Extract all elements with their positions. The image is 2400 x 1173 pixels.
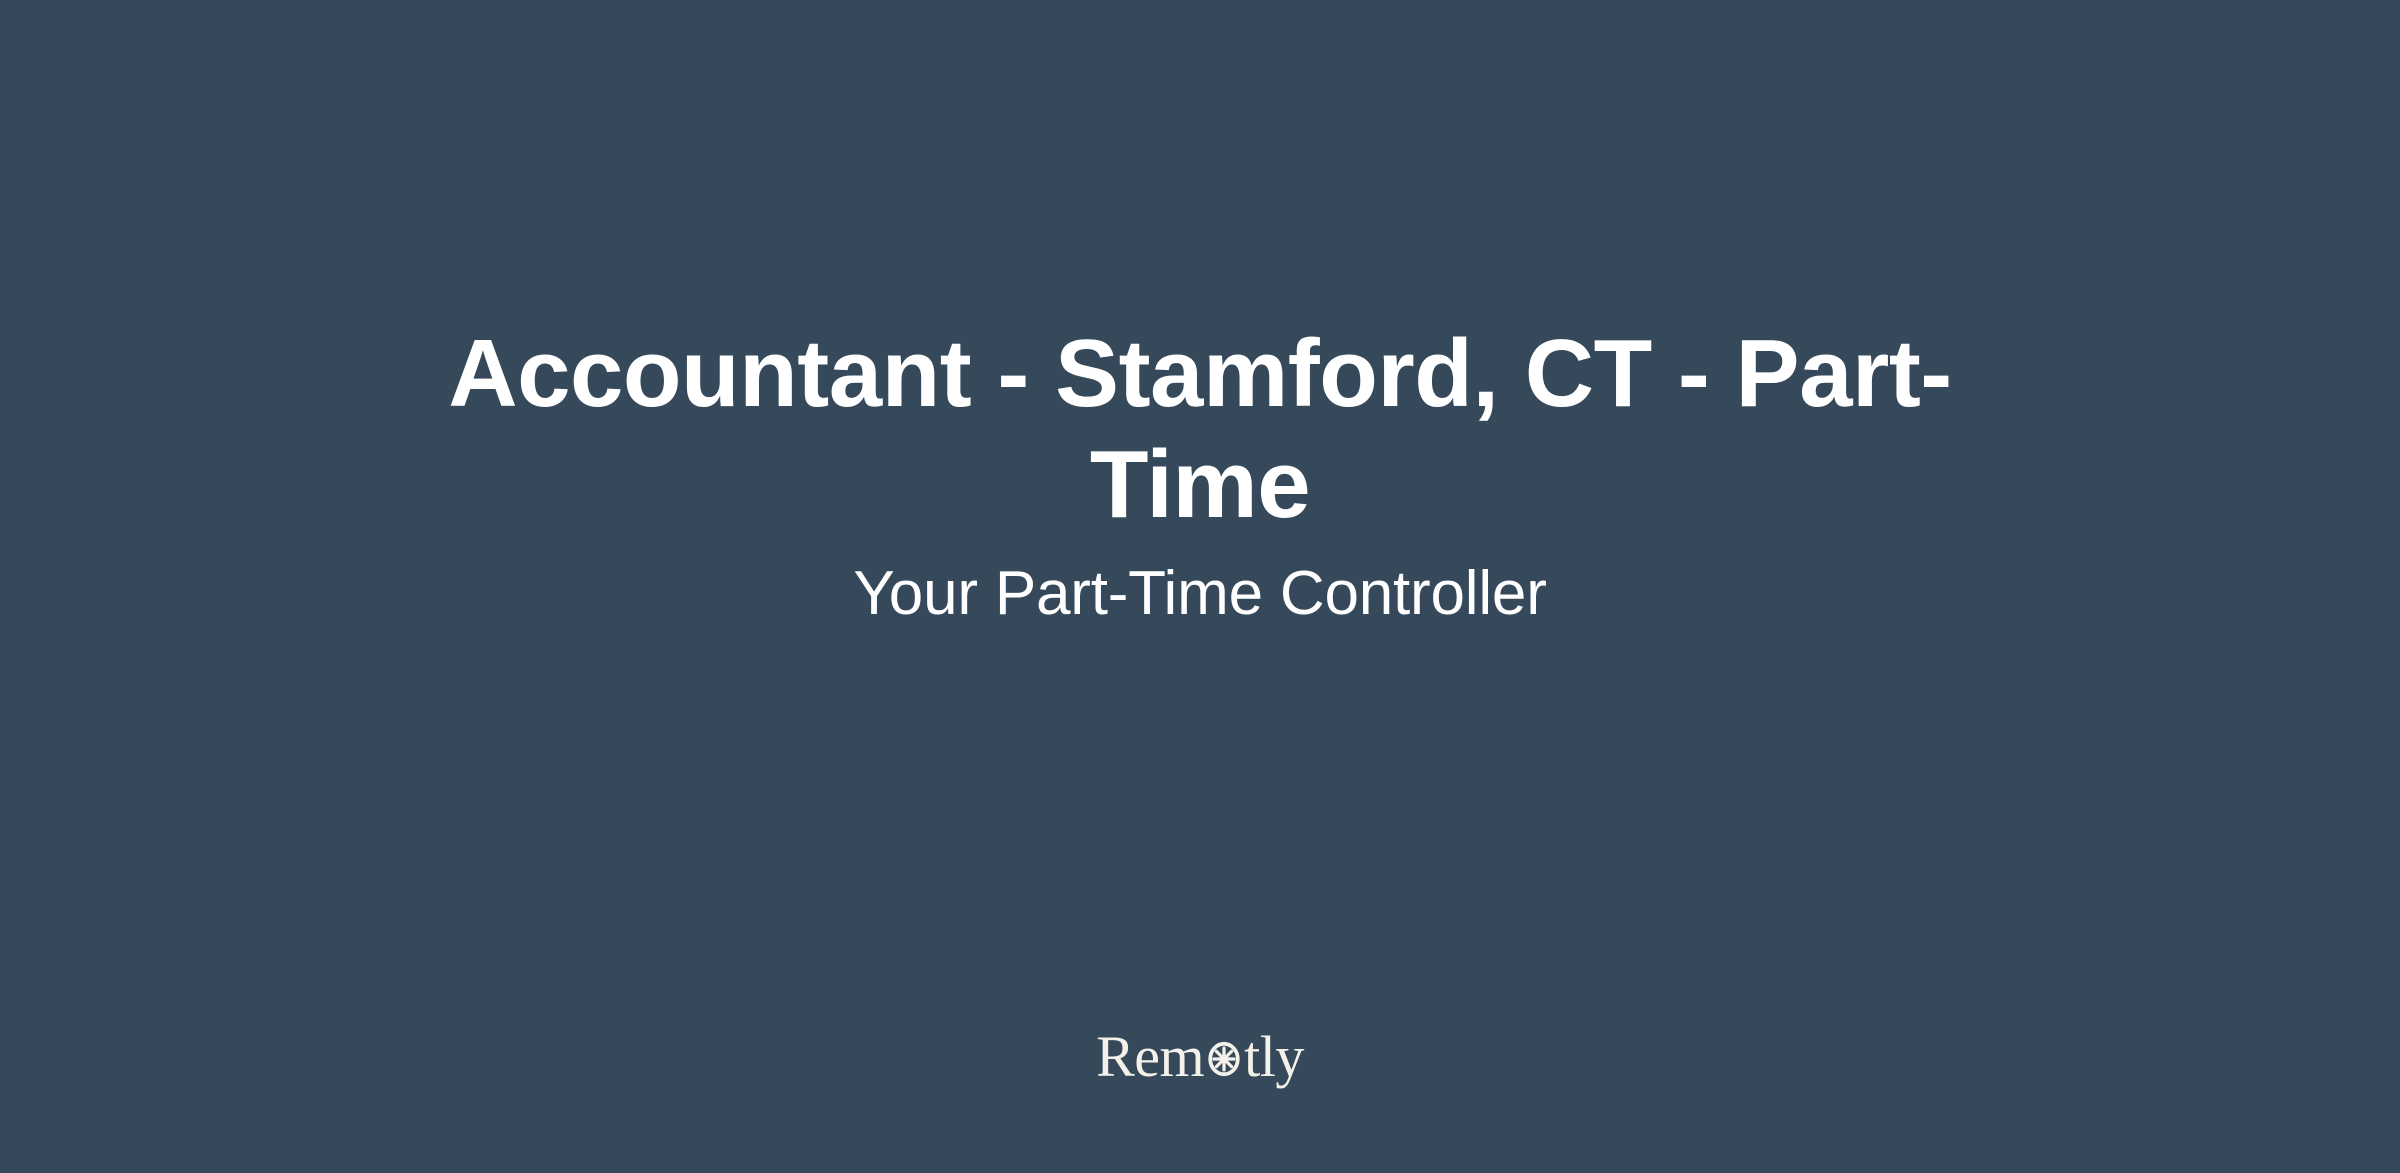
page-subtitle: Your Part-Time Controller (350, 541, 2050, 631)
hero-section: Accountant - Stamford, CT - Part-Time Yo… (0, 0, 2400, 1020)
job-posting-card: Accountant - Stamford, CT - Part-Time Yo… (0, 0, 2400, 1173)
brand-footer: Rem tly (0, 1028, 2400, 1086)
remotly-logo[interactable]: Rem tly (1096, 1028, 1304, 1086)
flower-asterisk-icon (1205, 1040, 1243, 1078)
logo-text-after-mark: tly (1244, 1028, 1304, 1086)
page-title: Accountant - Stamford, CT - Part-Time (395, 318, 2005, 541)
logo-text-before-mark: Rem (1096, 1028, 1204, 1086)
